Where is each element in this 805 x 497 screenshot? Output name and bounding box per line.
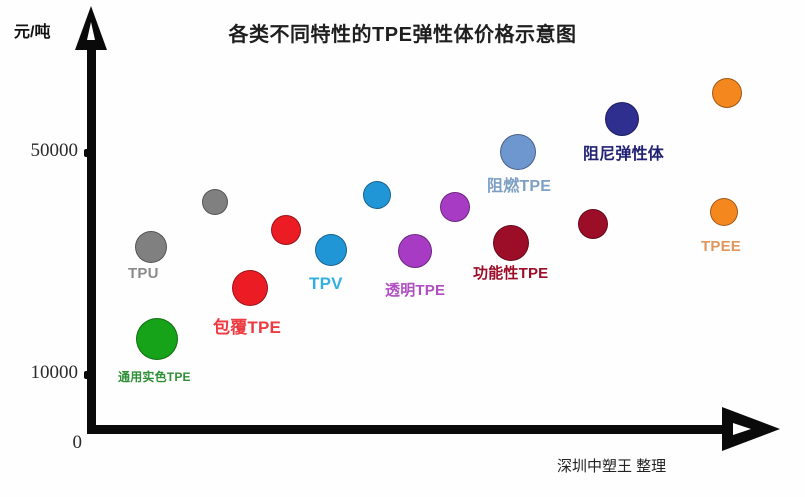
data-point[interactable]: [271, 215, 301, 245]
data-point[interactable]: [710, 198, 738, 226]
y-axis-tick-label: 10000: [31, 362, 79, 384]
y-axis-tick-mark: [84, 149, 96, 157]
data-point[interactable]: [493, 225, 529, 261]
data-point[interactable]: [605, 102, 639, 136]
data-point[interactable]: [712, 78, 742, 108]
x-axis-arrow-notch-icon: [733, 423, 751, 435]
x-axis-arrow-icon: [722, 407, 780, 451]
series-label: 功能性TPE: [473, 262, 548, 283]
data-point[interactable]: [440, 192, 470, 222]
x-axis-line: [87, 425, 727, 434]
data-point[interactable]: [232, 270, 268, 306]
data-point[interactable]: [398, 234, 432, 268]
y-axis-tick-mark: [84, 371, 96, 379]
data-point[interactable]: [578, 209, 608, 239]
series-label: 包覆TPE: [213, 313, 281, 338]
series-label: TPEE: [701, 238, 741, 255]
y-axis-tick-label: 0: [73, 432, 83, 454]
series-label: TPV: [309, 274, 343, 294]
chart-title: 各类不同特性的TPE弹性体价格示意图: [0, 18, 805, 47]
data-point[interactable]: [363, 181, 391, 209]
series-label: 阻尼弹性体: [583, 140, 664, 164]
footer-credit: 深圳中塑王 整理: [557, 455, 666, 476]
y-axis-arrow-notch-icon: [87, 22, 95, 40]
chart-canvas: 元/吨 各类不同特性的TPE弹性体价格示意图 01000050000 TPU通用…: [0, 0, 805, 497]
data-point[interactable]: [136, 318, 178, 360]
data-point[interactable]: [500, 134, 536, 170]
data-point[interactable]: [202, 189, 228, 215]
series-label: TPU: [128, 265, 159, 282]
series-label: 透明TPE: [385, 279, 445, 300]
series-label: 通用实色TPE: [118, 368, 191, 385]
y-axis-tick-label: 50000: [31, 140, 79, 162]
data-point[interactable]: [315, 234, 347, 266]
data-point[interactable]: [135, 231, 167, 263]
series-label: 阻燃TPE: [487, 172, 551, 196]
